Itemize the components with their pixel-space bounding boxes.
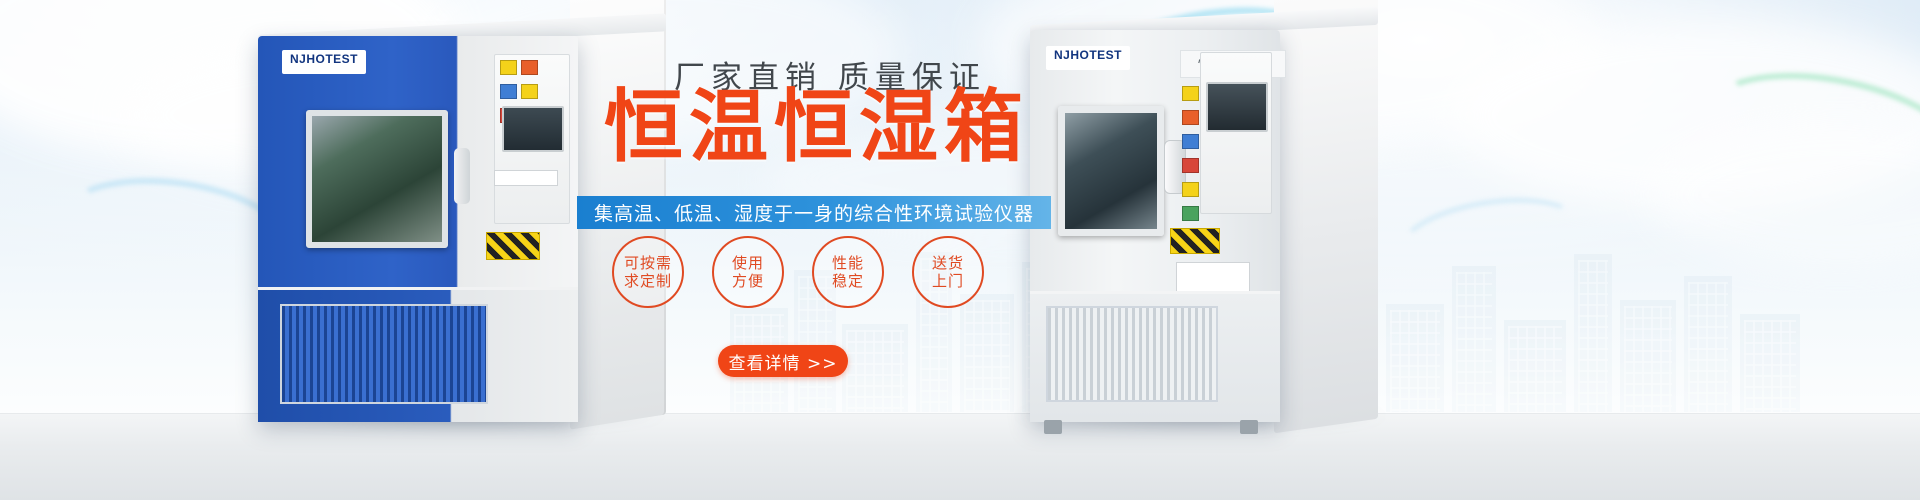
chamber-foot [1240, 420, 1258, 434]
chamber-display-screen [502, 106, 564, 152]
badge-line-1: 可按需 [624, 254, 672, 272]
feature-badge-stable-performance[interactable]: 性能 稳定 [812, 236, 884, 308]
product-image-left-chamber[interactable]: NJHOTEST [258, 36, 578, 422]
chamber-vent-grille [1046, 306, 1218, 402]
banner-headline: 恒温恒湿箱 [604, 88, 1029, 167]
warning-stickers [498, 58, 564, 98]
hazard-stripe-label [486, 232, 540, 260]
view-details-button[interactable]: 查看详情 >> [718, 345, 848, 377]
promo-banner: NJHOTEST NJHOTEST 恒温恒湿箱 [0, 0, 1920, 500]
warning-stickers [1180, 84, 1214, 180]
badge-line-2: 求定制 [624, 272, 672, 290]
badge-line-1: 送货 [932, 254, 964, 272]
feature-badge-list: 可按需 求定制 使用 方便 性能 稳定 送货 上门 [612, 236, 1032, 316]
chamber-door-handle [454, 148, 470, 204]
badge-line-1: 使用 [732, 254, 764, 272]
chamber-display-screen [1206, 82, 1268, 132]
badge-line-2: 方便 [732, 272, 764, 290]
feature-badge-easy-to-use[interactable]: 使用 方便 [712, 236, 784, 308]
badge-line-1: 性能 [832, 254, 864, 272]
chamber-vent-grille [280, 304, 488, 404]
banner-subtitle-bar: 集高温、低温、湿度于一身的综合性环境试验仪器 [577, 196, 1051, 229]
hazard-stripe-label [1170, 228, 1220, 254]
brand-logo-left: NJHOTEST [282, 50, 366, 74]
chamber-viewing-window [306, 110, 448, 248]
banner-subtitle-text: 集高温、低温、湿度于一身的综合性环境试验仪器 [594, 199, 1034, 226]
banner-copy-block: 厂家直销 质量保证 恒温恒湿箱 集高温、低温、湿度于一身的综合性环境试验仪器 可… [560, 0, 1070, 500]
feature-badge-door-delivery[interactable]: 送货 上门 [912, 236, 984, 308]
chamber-nameplate-left [494, 170, 558, 186]
badge-line-2: 稳定 [832, 272, 864, 290]
feature-badge-customizable[interactable]: 可按需 求定制 [612, 236, 684, 308]
chamber-side-panel [1274, 0, 1378, 433]
badge-line-2: 上门 [932, 272, 964, 290]
chamber-viewing-window [1058, 106, 1164, 236]
